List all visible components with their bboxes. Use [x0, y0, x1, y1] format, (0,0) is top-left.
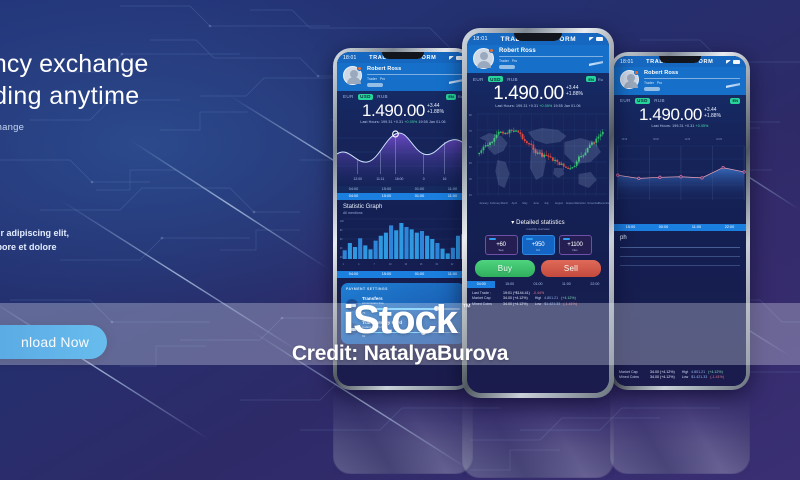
reflection-left: 18:01 TRADING PLATFORM Robert Ross Trade… — [333, 390, 473, 474]
card-icon-2 — [346, 323, 358, 335]
row-pct2-r2: (-1.41%) — [710, 375, 724, 381]
payment-slider-1[interactable] — [362, 332, 460, 334]
user-bar-center[interactable]: Robert Ross TraderPro — [467, 45, 609, 73]
stat-card-sep[interactable]: +60 Sep — [485, 235, 518, 255]
placeholder-line-1 — [620, 247, 740, 248]
lang-alt-center[interactable]: Ru — [598, 77, 603, 82]
svg-text:60: 60 — [340, 239, 343, 241]
trade-actions: Buy Sell — [467, 255, 609, 281]
price-value-right: 1.490.00 — [639, 106, 702, 123]
payment-settings-card: PAYMENT SETTINGS Transfers commission fr… — [341, 283, 465, 345]
delta-pct-center: +1.88% — [566, 91, 583, 97]
time-axis-center[interactable]: 04:00 15:00 01:00 11:00 22:00 — [467, 281, 609, 288]
status-time-center: 18:01 — [473, 36, 488, 42]
ghost-0: 04:00 — [337, 186, 370, 193]
user-meta-1: Pro — [380, 77, 385, 81]
status-time-right: 18:01 — [620, 59, 634, 65]
headline-line-2: , trading anytime — [0, 82, 140, 110]
download-now-button[interactable]: nload Now — [0, 325, 107, 359]
headline-subline: ons for exchange — [0, 122, 248, 133]
svg-text:16: 16 — [420, 264, 423, 266]
battery-icon-right — [733, 60, 740, 64]
time-right-0[interactable]: 15:00 — [614, 224, 647, 231]
phone-right: 18:01 TRADING PLATFORM Robert Ross Trade… — [610, 52, 750, 390]
time-tab-2[interactable]: 01:00 — [403, 193, 436, 200]
row-pct2-2: (-1.41%) — [563, 302, 577, 308]
status-icons — [449, 56, 463, 60]
svg-text:10: 10 — [389, 264, 392, 266]
avatar[interactable] — [343, 66, 362, 85]
currency-selector[interactable]: EUR USD RUB EN Ru — [337, 91, 469, 100]
time-center-1[interactable]: 15:00 — [495, 281, 523, 288]
time-right-1[interactable]: 00:00 — [647, 224, 680, 231]
time-tab-0[interactable]: 04:00 — [337, 193, 370, 200]
world-map-watermark — [467, 108, 609, 216]
time-center-4[interactable]: 22:00 — [581, 281, 609, 288]
stat-month-0: Sep — [489, 248, 514, 252]
payment-row-transfers[interactable]: Transfers commission free 75 — [346, 296, 460, 315]
svg-text:4: 4 — [358, 264, 360, 266]
price-value: 1.490.00 — [362, 102, 425, 119]
payment-caption-0: commission free — [362, 301, 460, 305]
time2-tab-1[interactable]: 15:00 — [370, 271, 403, 278]
line-chart-right[interactable]: 15:0000:0011:0022:00 — [614, 128, 746, 224]
price-value-center: 1.490.00 — [493, 84, 564, 103]
user-progress-line — [367, 74, 463, 75]
card-tag-icon-2 — [526, 238, 533, 241]
svg-text:15:00: 15:00 — [622, 139, 628, 141]
time-right-3[interactable]: 22:00 — [713, 224, 746, 231]
row-key-r2: Mined Coins — [619, 375, 647, 381]
user-bar-right[interactable]: Robert Ross TraderPro — [614, 67, 746, 95]
phone-center: 18:01 TRADING PLATFORM Robert Ross Trade… — [462, 28, 614, 398]
phone-left-screen[interactable]: 18:01 TRADING PLATFORM Robert Ross Trade… — [337, 52, 469, 386]
stat-month-1: Oct — [526, 248, 551, 252]
currency-selector-right[interactable]: EUR USD RUB EN — [614, 95, 746, 104]
row-key2-2: Low — [535, 302, 542, 308]
signal-icon — [449, 56, 454, 60]
delta-pct-right: +1.88% — [704, 113, 721, 119]
svg-text:100: 100 — [340, 221, 344, 223]
time-center-0[interactable]: 04:00 — [467, 281, 495, 288]
price-block: 1.490.00 +3.44 +1.88% — [337, 100, 469, 119]
time-right-2[interactable]: 11:00 — [680, 224, 713, 231]
notification-badge-center — [489, 48, 494, 53]
svg-text:16: 16 — [443, 177, 447, 181]
user-bar[interactable]: Robert Ross Trader Pro — [337, 63, 469, 91]
currency-rub-center[interactable]: RUB — [507, 77, 518, 82]
sell-button[interactable]: Sell — [541, 260, 601, 277]
headline: urrency exchange , trading anytime — [0, 48, 248, 112]
payment-row-transfers-my-card[interactable]: Transfers My Card instant transfer 62 — [346, 320, 460, 339]
svg-text:11:00: 11:00 — [685, 139, 691, 141]
phone-right-notch — [659, 56, 701, 63]
detailed-title-row: ▾ Detailed statistics — [473, 219, 603, 226]
stat-month-2: Nov — [563, 248, 588, 252]
detailed-statistics: ▾ Detailed statistics monthly overview +… — [467, 216, 609, 255]
notification-badge — [357, 66, 362, 71]
currency-eur-center[interactable]: EUR — [473, 77, 484, 82]
battery-icon-center — [596, 37, 603, 41]
row-key2-r2: Low — [682, 375, 689, 381]
svg-text:19: 19 — [435, 264, 438, 266]
payment-value-1: 62 — [362, 334, 460, 338]
user-name: Robert Ross — [367, 66, 463, 72]
user-action-button-right[interactable] — [644, 87, 660, 91]
currency-eur[interactable]: EUR — [343, 94, 354, 99]
stat-card-oct[interactable]: +950 Oct — [522, 235, 555, 255]
stats-table-center: Last Trade : 19:01 (*$144.41) -0.44% Mar… — [467, 288, 609, 313]
bar-chart[interactable]: 100806040201471013161922 — [337, 215, 469, 271]
time-axis-ghost: 04:00 15:00 01:00 11:00 — [337, 186, 469, 193]
user-name-right: Robert Ross — [644, 70, 740, 76]
time-axis-right[interactable]: 15:00 00:00 11:00 22:00 — [614, 224, 746, 231]
currency-selector-center[interactable]: EUR USD RUB EN Ru — [467, 73, 609, 82]
notification-badge-right — [634, 70, 639, 75]
row-val-2: 34.00 (+4.12%) — [503, 302, 528, 308]
statistic-section: Statistic Graph All mentions — [337, 200, 469, 215]
user-meta-0: Trader — [367, 77, 377, 81]
svg-text:11:11: 11:11 — [376, 177, 384, 181]
price-delta: +3.44 +1.88% — [427, 103, 444, 116]
down-arrow-icon: ▾ — [511, 220, 514, 226]
payment-slider-0[interactable] — [362, 308, 460, 310]
time2-tab-0[interactable]: 04:00 — [337, 271, 370, 278]
svg-text:7: 7 — [374, 264, 376, 266]
svg-text:20: 20 — [340, 257, 343, 259]
reflection-right: 18:01 TRADING PLATFORM Robert Ross Trade… — [610, 390, 750, 474]
time-axis-selector-2[interactable]: 04:00 15:00 01:00 11:00 — [337, 271, 469, 278]
user-meta-right-0: Trader — [644, 81, 654, 85]
user-meta-center-0: Trader — [499, 59, 509, 63]
svg-text:12:00: 12:00 — [354, 177, 363, 181]
payment-value-0: 75 — [362, 311, 460, 315]
detailed-title: Detailed statistics — [516, 220, 565, 226]
user-meta-center-1: Pro — [512, 59, 517, 63]
lorem-line-2: didunt ut labore et dolore — [0, 242, 57, 252]
statistic-title: Statistic Graph — [343, 204, 463, 210]
phone-center-screen[interactable]: 18:01 TRADING PLATFORM Robert Ross Trade… — [467, 33, 609, 393]
stat-card-nov[interactable]: +1100 Nov — [559, 235, 592, 255]
placeholder-line-2 — [620, 256, 740, 257]
buy-button[interactable]: Buy — [475, 260, 535, 277]
card-tag-icon-3 — [563, 238, 570, 241]
card-tag-icon — [489, 238, 496, 241]
time-center-2[interactable]: 01:00 — [524, 281, 552, 288]
payment-header: PAYMENT SETTINGS — [346, 287, 460, 291]
phone-left: 18:01 TRADING PLATFORM Robert Ross Trade… — [333, 48, 473, 390]
phone-left-notch — [382, 52, 424, 59]
time-tab-1[interactable]: 15:00 — [370, 193, 403, 200]
ghost-2: 01:00 — [403, 186, 436, 193]
signal-icon-center — [589, 37, 594, 41]
table-row: Mined Coins34.00 (+4.12%)Low$1.421.33(-1… — [619, 375, 741, 381]
right-graph-section: ph — [614, 231, 746, 241]
user-meta: Trader Pro — [367, 77, 463, 81]
time2-tab-2[interactable]: 01:00 — [403, 271, 436, 278]
marketing-copy: urrency exchange , trading anytime ons f… — [0, 48, 248, 254]
currency-eur-right[interactable]: EUR — [620, 98, 631, 103]
avatar-center[interactable] — [473, 48, 494, 69]
row-key-2: Mined Coins — [472, 302, 500, 308]
ghost-1: 15:00 — [370, 186, 403, 193]
row-val2-r2: $1.421.33 — [691, 375, 707, 381]
candlestick-chart[interactable]: 907560453015JanuaryFebruaryMarchAprilMay… — [467, 108, 609, 216]
row-val2-2: $1.421.33 — [544, 302, 560, 308]
lorem-text: , consectetur adipiscing elit, didunt ut… — [0, 227, 248, 254]
right-placeholder-rows — [614, 241, 746, 367]
signal-icon-right — [726, 60, 731, 64]
user-action-button[interactable] — [367, 83, 383, 87]
user-action-button-center[interactable] — [499, 65, 515, 69]
reflection-center: 18:01 TRADING PLATFORM Robert Ross Trade… — [462, 398, 614, 478]
currency-rub[interactable]: RUB — [377, 94, 388, 99]
user-name-center: Robert Ross — [499, 48, 603, 54]
headline-line-1: urrency exchange — [0, 50, 148, 78]
uiux-title: I/UX — [0, 163, 248, 192]
delta-pct: +1.88% — [427, 109, 444, 115]
svg-text:13: 13 — [404, 264, 407, 266]
stats-table-right: Market Cap34.00 (+4.12%)Higt4.801.21(+4.… — [614, 367, 746, 387]
detailed-subtitle: monthly overview — [473, 227, 603, 231]
table-row: Mined Coins 34.00 (+4.12%) Low $1.421.33… — [472, 302, 604, 308]
svg-text:0: 0 — [423, 177, 425, 181]
row-val-r2: 34.00 (+4.12%) — [650, 375, 675, 381]
user-meta-right-1: Pro — [657, 81, 662, 85]
time-axis-selector[interactable]: 04:00 15:00 01:00 11:00 — [337, 193, 469, 200]
wave-chart[interactable]: 12:0011:11 16:00016 — [337, 124, 469, 186]
card-icon — [346, 299, 358, 311]
payment-caption-1: instant transfer — [362, 325, 460, 329]
lorem-line-1: , consectetur adipiscing elit, — [0, 228, 69, 238]
stat-cards: +60 Sep +950 Oct +1100 Nov — [473, 235, 603, 255]
phone-center-notch — [514, 33, 562, 41]
placeholder-line-3 — [620, 265, 740, 266]
svg-text:16:00: 16:00 — [395, 177, 404, 181]
svg-text:22:00: 22:00 — [716, 139, 722, 141]
avatar-right[interactable] — [620, 70, 639, 89]
uiux-subtitle: Mobile App — [0, 194, 248, 205]
svg-text:80: 80 — [340, 230, 343, 232]
svg-text:00:00: 00:00 — [653, 139, 659, 141]
svg-text:40: 40 — [340, 248, 343, 250]
currency-rub-right[interactable]: RUB — [654, 98, 665, 103]
phone-right-screen[interactable]: 18:01 TRADING PLATFORM Robert Ross Trade… — [614, 56, 746, 386]
svg-text:1: 1 — [343, 264, 345, 266]
poster-canvas: urrency exchange , trading anytime ons f… — [0, 0, 800, 480]
status-time: 18:01 — [343, 55, 357, 61]
svg-text:22: 22 — [451, 264, 454, 266]
time-center-3[interactable]: 11:00 — [552, 281, 580, 288]
